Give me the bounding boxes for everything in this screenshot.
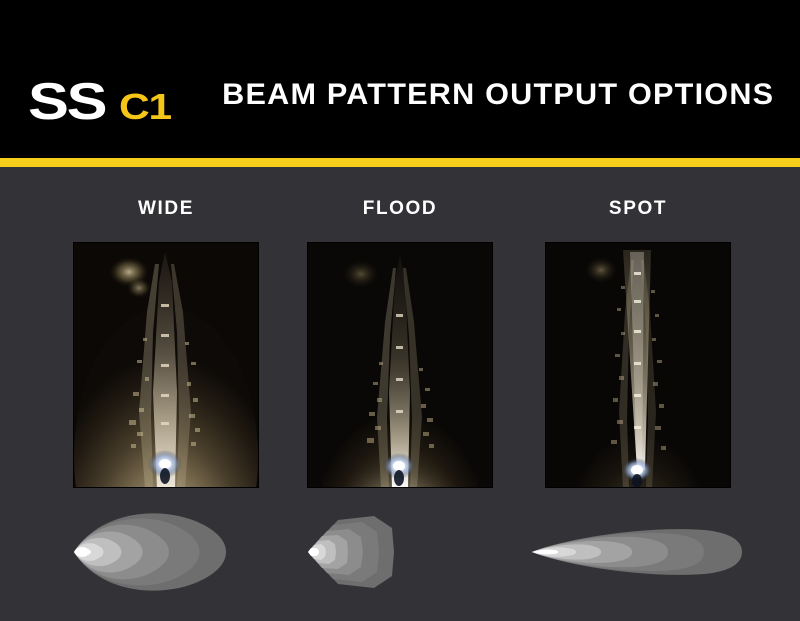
page-title: BEAM PATTERN OUTPUT OPTIONS xyxy=(222,78,774,112)
brand-logo: SS C1 xyxy=(28,76,163,128)
beam-option-label-flood: FLOOD xyxy=(280,198,520,220)
brand-logo-secondary: C1 xyxy=(119,89,171,125)
beam-pattern-diagram-flood xyxy=(280,502,520,602)
header-banner: SS C1 BEAM PATTERN OUTPUT OPTIONS xyxy=(0,0,800,158)
brand-logo-primary: SS xyxy=(28,76,105,128)
beam-option-label-wide: WIDE xyxy=(46,198,286,220)
beam-photo-spot xyxy=(545,242,731,488)
beam-option-spot: SPOT xyxy=(518,167,758,621)
beam-option-label-spot: SPOT xyxy=(518,198,758,220)
beam-option-flood: FLOOD xyxy=(280,167,520,621)
beam-options-row: WIDE xyxy=(0,167,800,621)
beam-photo-wide xyxy=(73,242,259,488)
beam-photo-flood xyxy=(307,242,493,488)
accent-divider-bar xyxy=(0,158,800,167)
beam-option-wide: WIDE xyxy=(46,167,286,621)
beam-pattern-diagram-spot xyxy=(518,502,758,602)
beam-pattern-diagram-wide xyxy=(46,502,286,602)
